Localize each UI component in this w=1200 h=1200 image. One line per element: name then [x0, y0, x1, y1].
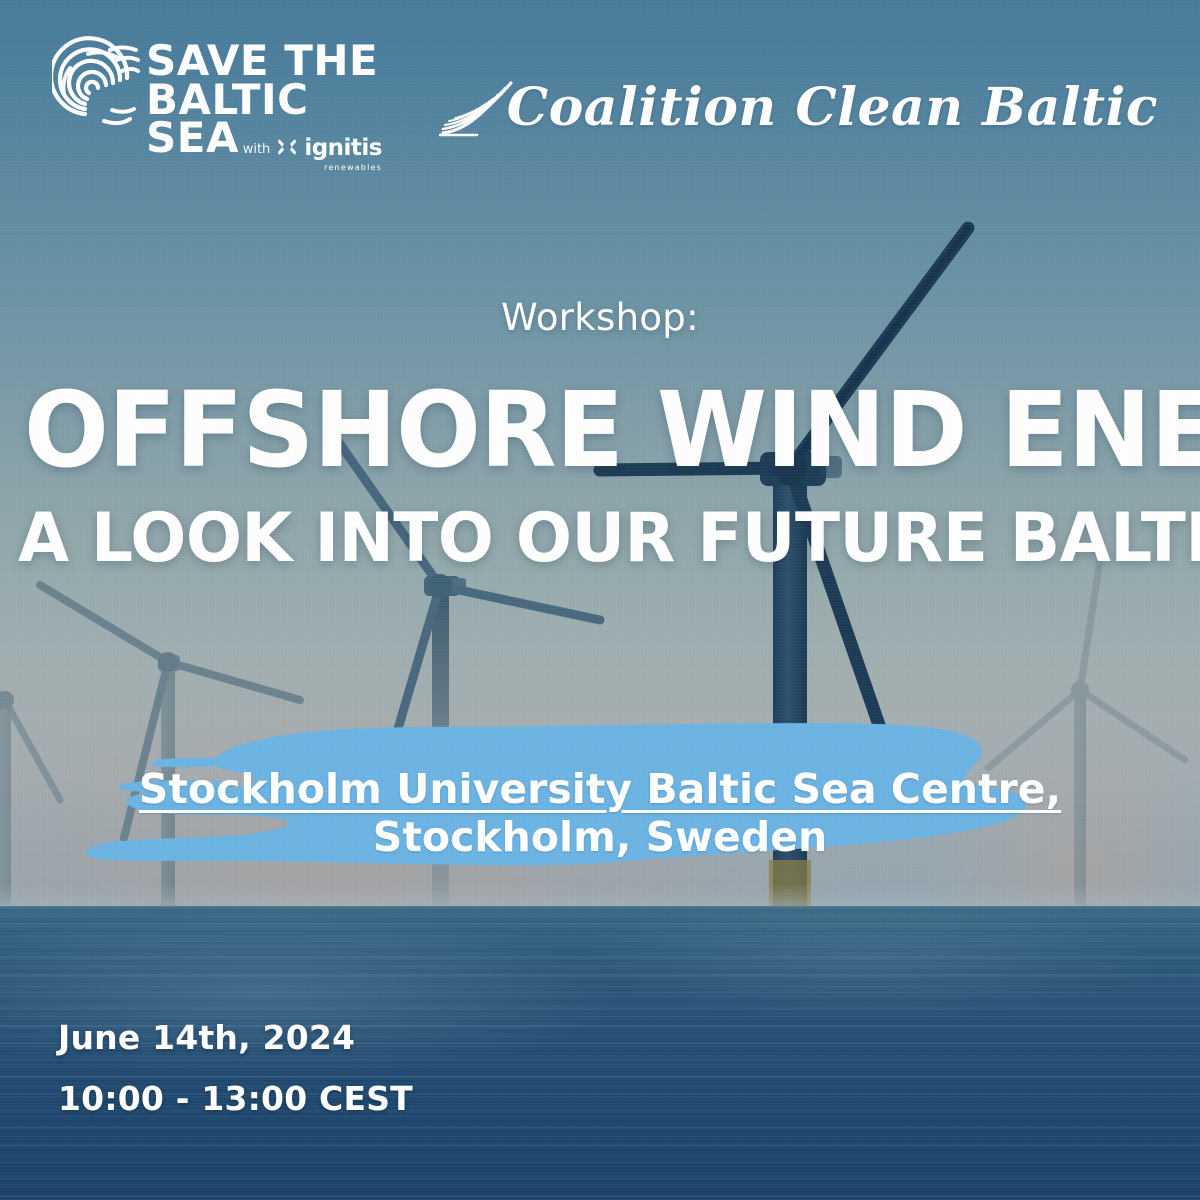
coalition-clean-baltic-logo[interactable]: Coalition Clean Baltic: [439, 62, 1158, 152]
wave-swoosh-icon: [439, 79, 517, 141]
event-date: June 14th, 2024: [58, 1018, 413, 1057]
ignitis-wordmark: ignitis: [304, 137, 382, 160]
page-title-line-2: A LOOK INTO OUR FUTURE BALTIC SEA: [18, 505, 1182, 573]
save-the-baltic-sea-logo[interactable]: SAVE THE BALTIC SEA with ignitis renewab…: [52, 36, 382, 176]
venue-line-2: Stockholm, Sweden: [0, 814, 1200, 862]
event-time: 10:00 - 13:00 CEST: [58, 1079, 413, 1118]
coalition-clean-baltic-wordmark: Coalition Clean Baltic: [507, 77, 1158, 138]
venue-text: Stockholm University Baltic Sea Centre, …: [0, 766, 1200, 861]
schedule-block: June 14th, 2024 10:00 - 13:00 CEST: [58, 1018, 413, 1118]
ignitis-partner-lockup[interactable]: with ignitis renewables: [243, 136, 382, 160]
kicker-label: Workshop:: [0, 296, 1200, 339]
ignitis-x-icon: [276, 136, 298, 158]
venue-line-1: Stockholm University Baltic Sea Centre,: [0, 766, 1200, 814]
with-label: with: [243, 142, 271, 160]
page-title-line-1: OFFSHORE WIND ENERGY: [24, 378, 1176, 482]
fingerprint-wave-spiral-icon: [52, 36, 140, 136]
poster-canvas: SAVE THE BALTIC SEA with ignitis renewab…: [0, 0, 1200, 1200]
ignitis-renewables-sub: renewables: [324, 163, 382, 172]
